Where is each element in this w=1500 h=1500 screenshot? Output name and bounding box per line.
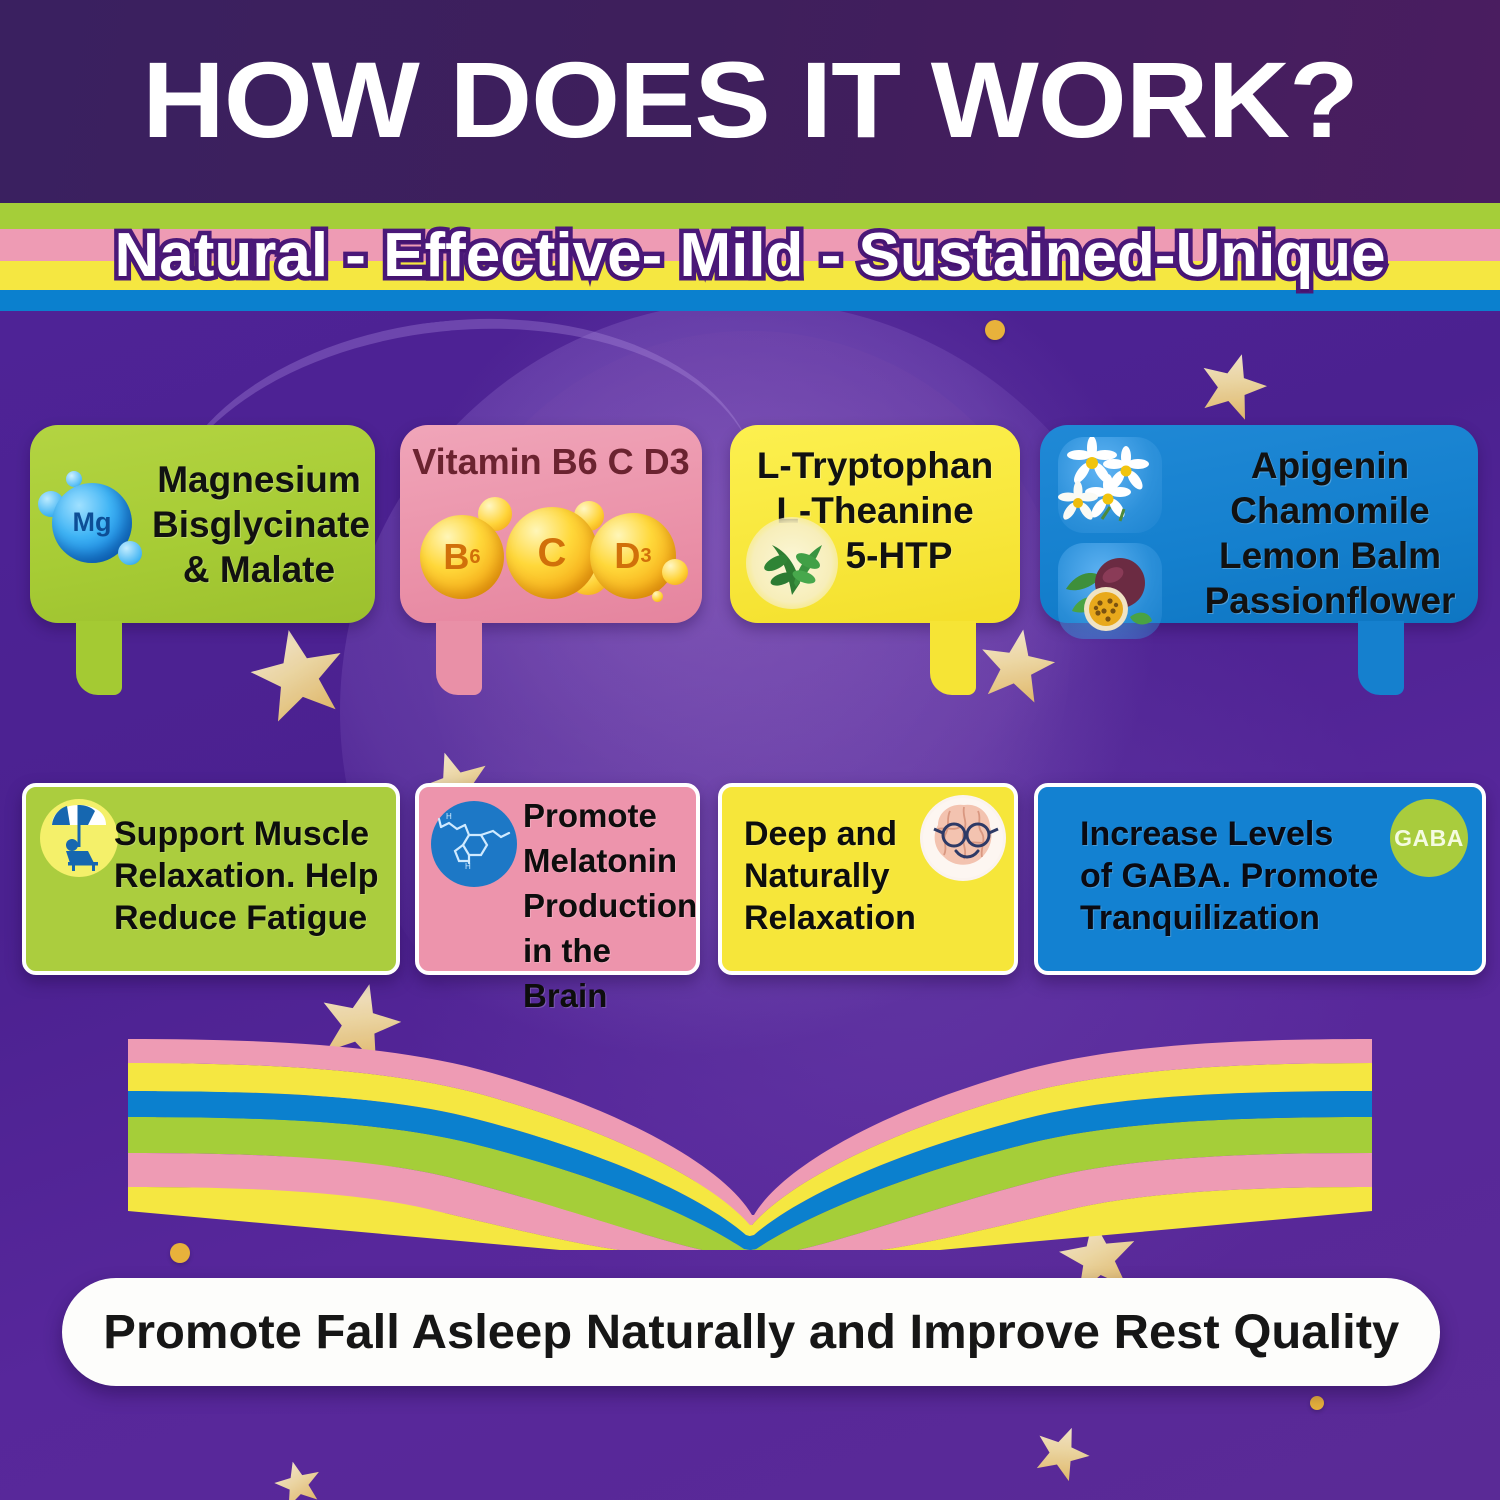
benefit-line: Naturally bbox=[744, 855, 964, 897]
ingredient-line: Chamomile bbox=[1190, 488, 1470, 533]
benefit-line: Promote bbox=[523, 793, 699, 838]
benefit-line: Deep and bbox=[744, 813, 964, 855]
footer-text: Promote Fall Asleep Naturally and Improv… bbox=[103, 1305, 1399, 1360]
bubble-tail bbox=[436, 621, 482, 695]
tagline-band: Natural - Effective- Mild - Sustained-Un… bbox=[0, 203, 1500, 311]
melatonin-molecule-icon: HH bbox=[431, 801, 517, 887]
tagline-text: Natural - Effective- Mild - Sustained-Un… bbox=[0, 207, 1500, 305]
ingredient-bubble-vitamins[interactable]: Vitamin B6 C D3 B6 C D3 bbox=[400, 425, 702, 623]
chamomile-flowers-icon bbox=[1058, 437, 1162, 533]
ingredient-bubble-botanicals[interactable]: Apigenin Chamomile Lemon Balm Passionflo… bbox=[1040, 425, 1478, 623]
page-title: HOW DOES IT WORK? bbox=[0, 46, 1500, 154]
benefit-line: Relaxation. Help bbox=[114, 855, 394, 897]
ingredient-line: Passionflower bbox=[1190, 578, 1470, 623]
ribbon-svg bbox=[0, 1035, 1500, 1250]
footer-banner: Promote Fall Asleep Naturally and Improv… bbox=[62, 1278, 1440, 1386]
benefit-line: Melatonin bbox=[523, 838, 699, 883]
ingredient-line: Apigenin bbox=[1190, 443, 1470, 488]
benefit-card-melatonin[interactable]: HH Promote Melatonin Production in the B… bbox=[415, 783, 700, 975]
benefit-line: Relaxation bbox=[744, 897, 964, 939]
benefit-line: Increase Levels bbox=[1080, 813, 1440, 855]
header-banner: HOW DOES IT WORK? bbox=[0, 0, 1500, 203]
infographic-root: HOW DOES IT WORK? Natural - Effective- M… bbox=[0, 0, 1500, 1500]
benefit-line: Support Muscle bbox=[114, 813, 394, 855]
vitamin-d3-bubble: D3 bbox=[590, 513, 676, 599]
ribbon-shape bbox=[128, 1039, 1372, 1250]
ingredient-bubble-aminoacids[interactable]: L-Tryptophan L-Theanine 5-HTP bbox=[730, 425, 1020, 623]
mg-droplet-icon: Mg bbox=[36, 469, 146, 579]
gold-dot bbox=[985, 320, 1005, 340]
star-decor bbox=[1192, 345, 1273, 425]
ingredient-line: Lemon Balm bbox=[1190, 533, 1470, 578]
ingredient-line: L-Tryptophan bbox=[730, 443, 1020, 488]
ingredient-line: Bisglycinate bbox=[152, 502, 366, 547]
ingredient-line: Magnesium bbox=[152, 457, 366, 502]
passionfruit-icon bbox=[1058, 543, 1162, 639]
benefit-line: Tranquilization bbox=[1080, 897, 1440, 939]
star-decor bbox=[270, 1456, 325, 1500]
v-ribbon-divider bbox=[0, 1035, 1500, 1250]
bubble-tail bbox=[1358, 621, 1404, 695]
star-decor bbox=[1027, 1418, 1097, 1486]
vitamin-b6-bubble: B6 bbox=[420, 515, 504, 599]
benefit-card-deep-relaxation[interactable]: Deep and Naturally Relaxation bbox=[718, 783, 1018, 975]
beach-lounger-icon bbox=[40, 799, 118, 877]
vitamin-bubbles-icon: B6 C D3 bbox=[414, 497, 686, 607]
benefit-line: Reduce Fatigue bbox=[114, 897, 394, 939]
bubble-tail bbox=[76, 621, 122, 695]
bubble-tail bbox=[930, 621, 976, 695]
vitamin-heading: Vitamin B6 C D3 bbox=[400, 441, 702, 483]
gold-dot bbox=[1310, 1396, 1324, 1410]
svg-text:H: H bbox=[446, 812, 452, 821]
ingredient-line: & Malate bbox=[152, 547, 366, 592]
benefit-card-muscle-relaxation[interactable]: Support Muscle Relaxation. Help Reduce F… bbox=[22, 783, 400, 975]
benefit-card-gaba[interactable]: GABA Increase Levels of GABA. Promote Tr… bbox=[1034, 783, 1486, 975]
ingredient-bubble-magnesium[interactable]: Mg Magnesium Bisglycinate & Malate bbox=[30, 425, 375, 623]
svg-text:H: H bbox=[465, 862, 471, 871]
mg-symbol-label: Mg bbox=[52, 507, 132, 538]
green-leaf-icon bbox=[746, 517, 838, 609]
benefit-line: Production bbox=[523, 883, 699, 928]
star-decor bbox=[244, 620, 353, 727]
benefit-line: of GABA. Promote bbox=[1080, 855, 1440, 897]
benefit-line: in the Brain bbox=[523, 928, 699, 1018]
vitamin-c-bubble: C bbox=[506, 507, 598, 599]
